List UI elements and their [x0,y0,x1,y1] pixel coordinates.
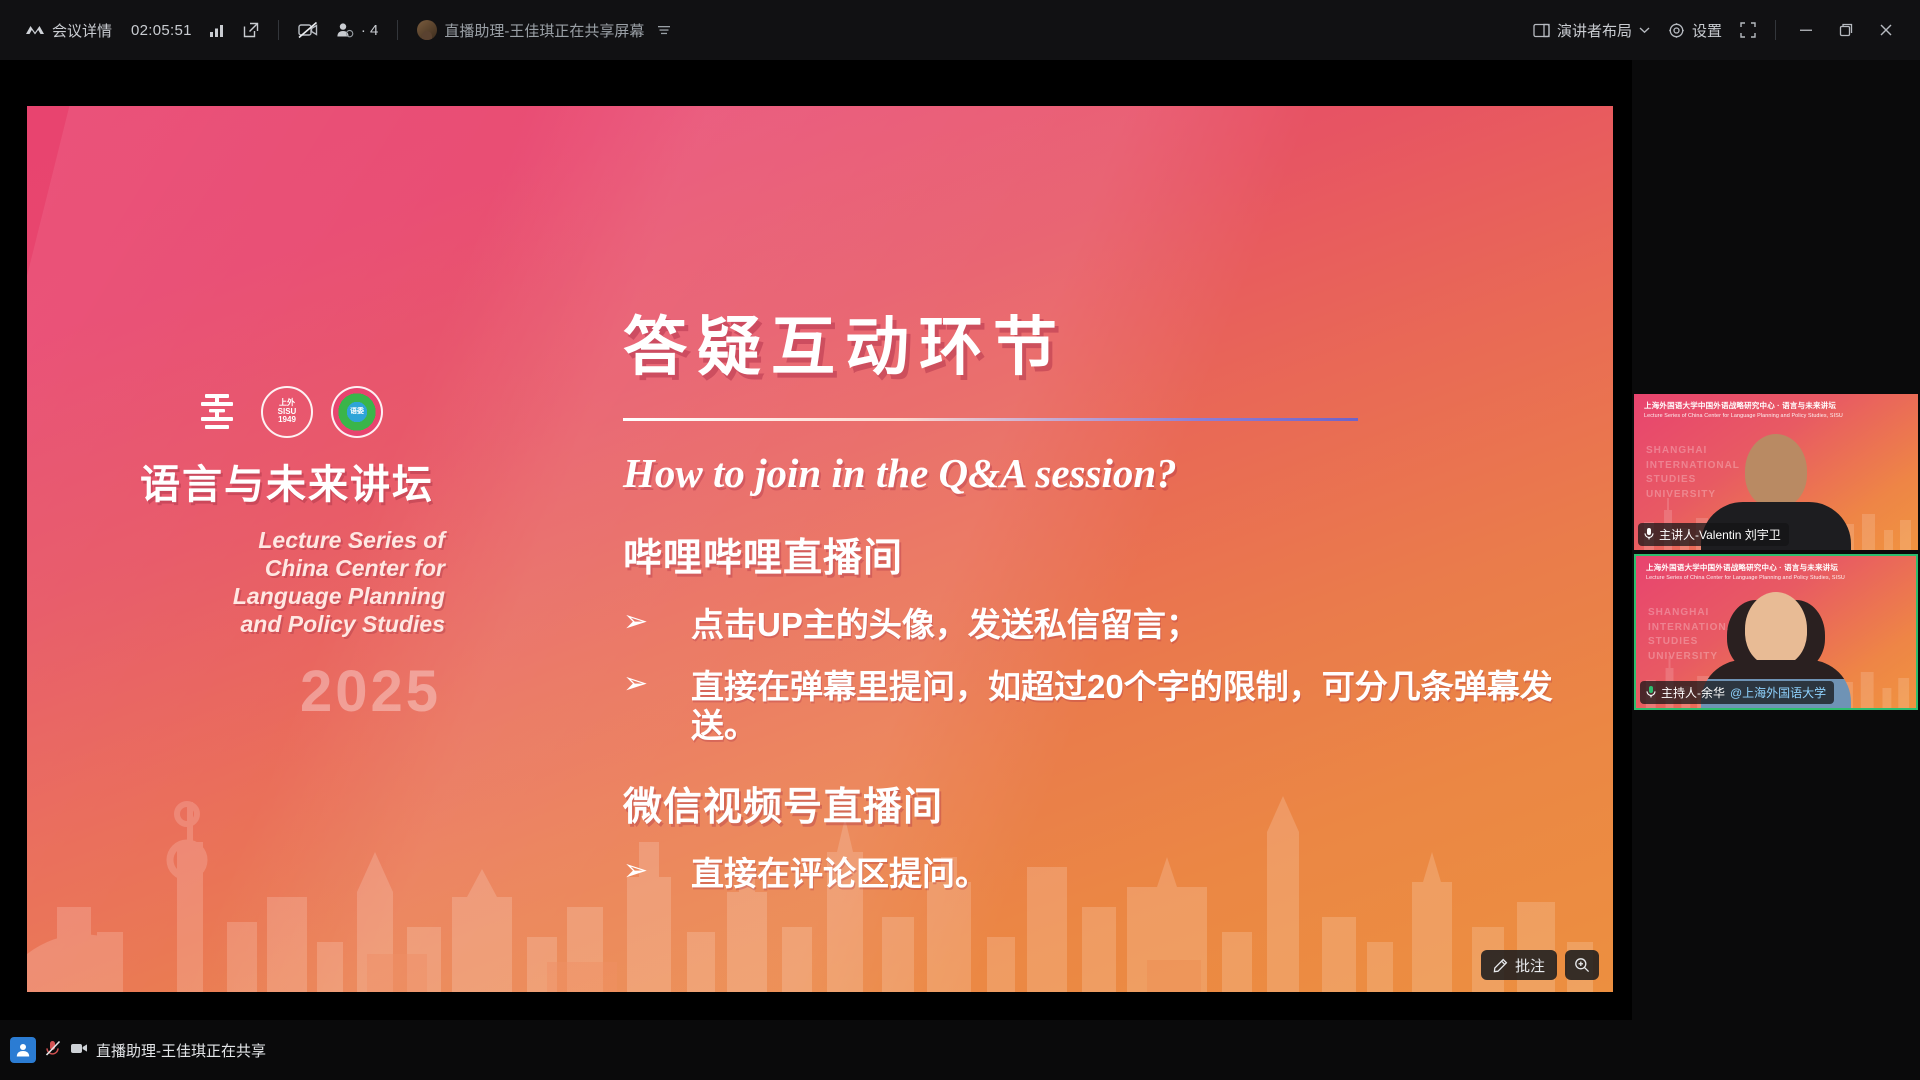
section-heading: 哔哩哔哩直播间 [623,527,1553,583]
slide-title: 答疑互动环节 [623,296,1553,388]
toolbar-divider-1 [278,20,279,40]
background-title-cn: 上海外国语大学中国外语战略研究中心 · 语言与未来讲坛 [1646,562,1910,573]
section-heading: 微信视频号直播间 [623,776,1553,832]
slide-section: 哔哩哔哩直播间 ➢ 点击UP主的头像，发送私信留言； ➢ 直接在弹幕里提问，如超… [623,527,1553,746]
language-work-seal-logo: 语委 [331,386,383,438]
slide-sections: 哔哩哔哩直播间 ➢ 点击UP主的头像，发送私信留言； ➢ 直接在弹幕里提问，如超… [623,527,1553,893]
layout-button[interactable]: 演讲者布局 [1524,13,1659,47]
slide-subtitle-en: How to join in the Q&A session? [623,449,1553,497]
user-avatar-icon [10,1037,36,1063]
meeting-window: 会议详情 02:05:51 [0,0,1920,1080]
pencil-icon [1493,958,1508,973]
slide-section: 微信视频号直播间 ➢ 直接在评论区提问。 [623,776,1553,894]
recording-disabled-button[interactable] [289,13,327,47]
more-options-icon[interactable] [657,24,671,36]
video-camera-icon[interactable] [70,1041,88,1060]
forum-year: 2025 [127,658,447,725]
presentation-slide: 上外SISU1949 语委 语言与未来讲坛 Lecture Series of … [27,106,1613,992]
bullet-item: ➢ 直接在弹幕里提问，如超过20个字的限制，可分几条弹幕发送。 [623,667,1553,746]
toolbar-left-group: 会议详情 02:05:51 [0,0,680,60]
shared-screen-stage[interactable]: 上外SISU1949 语委 语言与未来讲坛 Lecture Series of … [0,60,1632,1020]
chevron-down-icon [1639,26,1650,34]
signal-bars-icon [209,23,225,37]
bullet-marker-icon: ➢ [623,667,691,702]
toolbar-right-group: 演讲者布局 设置 [1524,0,1920,60]
background-title-en: Lecture Series of China Center for Langu… [1644,413,1912,419]
person-head [1745,434,1807,508]
bullet-text: 直接在评论区提问。 [691,854,988,894]
layout-label: 演讲者布局 [1557,20,1632,41]
title-divider [623,418,1358,421]
bullet-marker-icon: ➢ [623,854,691,889]
background-branding: 上海外国语大学中国外语战略研究中心 · 语言与未来讲坛 Lecture Seri… [1636,556,1916,581]
meeting-timer: 02:05:51 [131,22,192,39]
participant-tile-active[interactable]: 上海外国语大学中国外语战略研究中心 · 语言与未来讲坛 Lecture Seri… [1634,554,1918,710]
forum-brand-block: 上外SISU1949 语委 语言与未来讲坛 Lecture Series of … [127,386,447,725]
participants-count: · 4 [361,22,379,39]
bullet-item: ➢ 直接在评论区提问。 [623,854,1553,894]
forum-name-cn: 语言与未来讲坛 [127,452,447,510]
participant-rail: 上海外国语大学中国外语战略研究中心 · 语言与未来讲坛 Lecture Seri… [1632,60,1920,1020]
background-branding: 上海外国语大学中国外语战略研究中心 · 语言与未来讲坛 Lecture Seri… [1634,394,1918,419]
bottom-bar: 直播助理-王佳琪正在共享 [0,1020,1920,1080]
popout-window-icon [243,22,259,38]
toolbar-divider-3 [1775,20,1776,40]
network-quality-button[interactable] [200,13,234,47]
background-title-en: Lecture Series of China Center for Langu… [1646,575,1910,581]
microphone-icon [1644,527,1654,543]
maximize-button[interactable] [1826,13,1866,47]
background-title-cn: 上海外国语大学中国外语战略研究中心 · 语言与未来讲坛 [1644,400,1912,411]
participant-tile[interactable]: 上海外国语大学中国外语战略研究中心 · 语言与未来讲坛 Lecture Seri… [1634,394,1918,550]
sharing-status-text: 直播助理-王佳琪正在共享屏幕 [444,20,644,41]
recording-disabled-icon [298,21,318,39]
settings-button[interactable]: 设置 [1659,13,1731,47]
slide-tools: 批注 [1481,950,1599,980]
participant-name-badge: 主讲人-Valentin 刘宇卫 [1638,523,1789,546]
sharing-status-chip[interactable]: 直播助理-王佳琪正在共享屏幕 [408,13,680,47]
popout-window-button[interactable] [234,13,268,47]
minimize-button[interactable] [1786,13,1826,47]
share-status-text: 直播助理-王佳琪正在共享 [96,1040,266,1061]
gear-icon [1668,22,1685,39]
share-status-chip[interactable]: 直播助理-王佳琪正在共享 [10,1037,266,1063]
top-toolbar: 会议详情 02:05:51 [0,0,1920,60]
settings-label: 设置 [1692,20,1722,41]
microphone-muted-icon[interactable] [44,1039,62,1062]
fullscreen-button[interactable] [1731,13,1765,47]
fullscreen-icon [1740,22,1756,38]
magnifier-plus-icon [1574,957,1590,973]
participants-button[interactable]: · 4 [327,13,388,47]
zoom-button[interactable] [1565,950,1599,980]
annotate-label: 批注 [1515,955,1545,976]
participants-icon [336,22,354,38]
brand-logos: 上外SISU1949 语委 [127,386,447,438]
toolbar-divider-2 [397,20,398,40]
meeting-logo-icon [25,23,45,37]
slide-content: 答疑互动环节 How to join in the Q&A session? 哔… [623,296,1553,893]
participant-name: 主讲人-Valentin 刘宇卫 [1659,526,1781,543]
person-head [1745,592,1807,666]
bullet-text: 直接在弹幕里提问，如超过20个字的限制，可分几条弹幕发送。 [691,667,1553,746]
meeting-info-label: 会议详情 [52,20,112,41]
participant-name: 主持人-余华 [1661,684,1725,701]
participant-affiliation: @上海外国语大学 [1730,684,1826,701]
bullet-text: 点击UP主的头像，发送私信留言； [691,605,1199,645]
annotate-button[interactable]: 批注 [1481,950,1557,980]
forum-name-en: Lecture Series of China Center for Langu… [127,526,447,638]
sisu-seal-logo: 上外SISU1949 [261,386,313,438]
layout-icon [1533,23,1550,38]
bullet-item: ➢ 点击UP主的头像，发送私信留言； [623,605,1553,645]
bullet-marker-icon: ➢ [623,605,691,640]
meeting-info-button[interactable]: 会议详情 [16,13,121,47]
sharer-avatar [417,20,437,40]
microphone-icon [1646,685,1656,701]
participant-name-badge: 主持人-余华 @上海外国语大学 [1640,681,1834,704]
close-button[interactable] [1866,13,1906,47]
ccl-mark-logo [191,386,243,438]
